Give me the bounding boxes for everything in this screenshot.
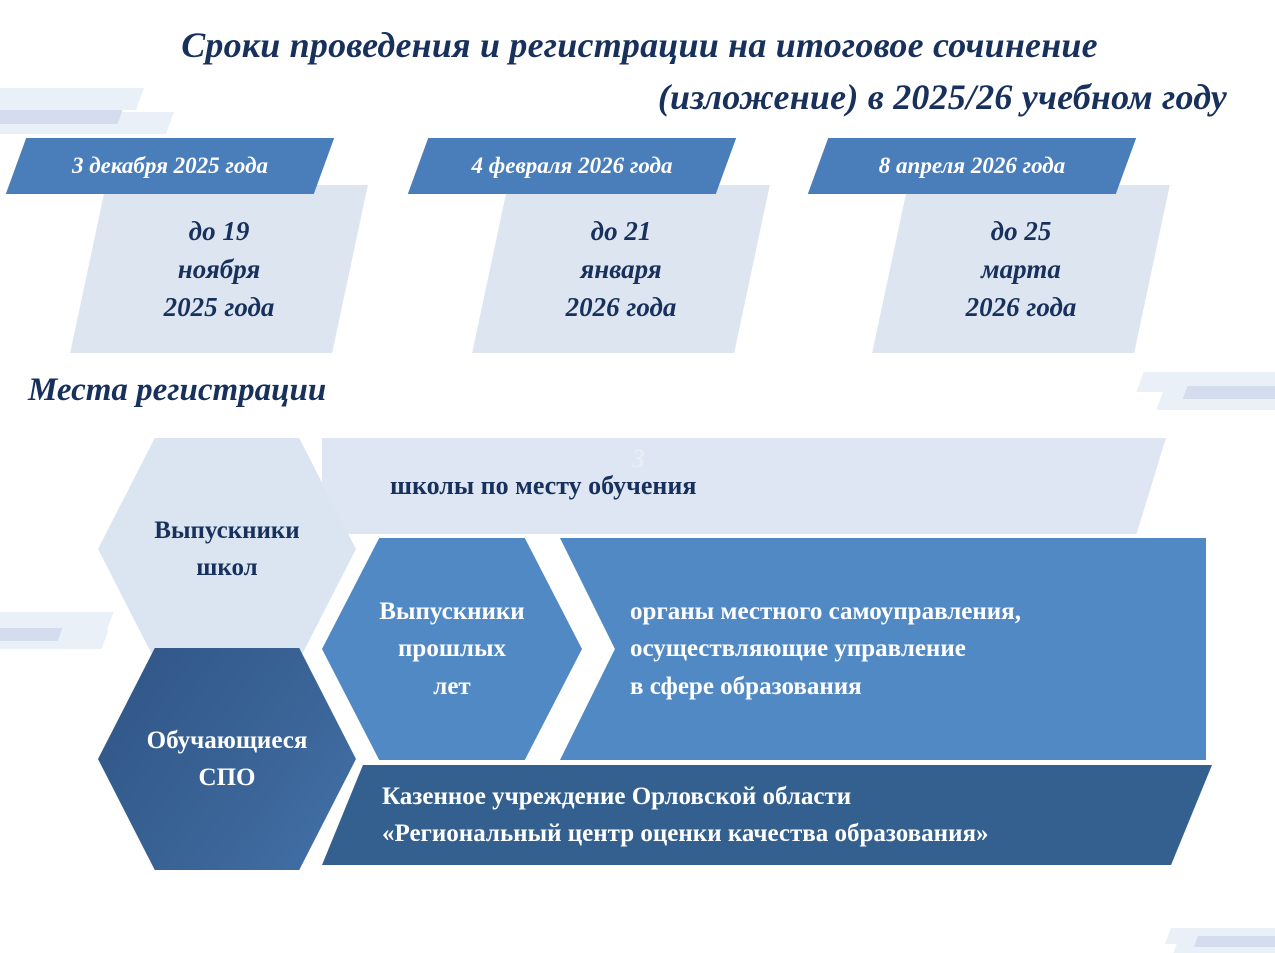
registration-places-heading: Места регистрации [28, 372, 326, 409]
regional-centre-line-1: Казенное учреждение Орловской области [382, 778, 1212, 816]
date-card-2-deadline-line-1: до 21 [591, 212, 652, 250]
school-graduates-line-1: Выпускники [154, 512, 299, 550]
date-card-1: до 19 ноября 2025 года 3 декабря 2025 го… [16, 138, 346, 353]
local-government-line-2: осуществляющие управление [630, 630, 1206, 668]
slide-title-line-2: (изложение) в 2025/26 учебном году [52, 72, 1227, 124]
past-years-line-1: Выпускники [379, 593, 524, 631]
date-card-3-registration-deadline: до 25 марта 2026 года [890, 185, 1152, 353]
slide-number-watermark: 3 [632, 444, 645, 474]
registration-places-diagram: школы по месту обучения органы местного … [0, 430, 1275, 860]
school-graduates-line-2: школ [196, 549, 257, 587]
decor-strip-right-mid-3 [1156, 390, 1275, 410]
school-graduates-label: Выпускники школ [98, 438, 356, 660]
spo-students-line-2: СПО [199, 759, 256, 797]
decor-strip-right-mid-1 [1136, 372, 1275, 392]
local-government-line-3: в сфере образования [630, 668, 1206, 706]
date-card-3-exam-date: 8 апреля 2026 года [818, 138, 1126, 194]
date-card-1-registration-deadline: до 19 ноября 2025 года [88, 185, 350, 353]
date-card-2-deadline-line-3: 2026 года [566, 288, 677, 326]
date-card-2: до 21 января 2026 года 4 февраля 2026 го… [418, 138, 748, 353]
regional-centre-band-label: Казенное учреждение Орловской области «Р… [322, 765, 1212, 865]
date-card-2-deadline-line-2: января [580, 250, 661, 288]
date-card-1-deadline-line-2: ноября [178, 250, 261, 288]
past-years-line-3: лет [433, 668, 470, 706]
date-card-1-deadline-line-1: до 19 [189, 212, 250, 250]
date-card-2-exam-date: 4 февраля 2026 года [418, 138, 726, 194]
date-card-3: до 25 марта 2026 года 8 апреля 2026 года [818, 138, 1148, 353]
decor-strip-bottom-right-3 [1173, 938, 1275, 953]
local-government-line-1: органы местного самоуправления, [630, 593, 1206, 631]
date-card-2-registration-deadline: до 21 января 2026 года [490, 185, 752, 353]
spo-students-line-1: Обучающиеся [147, 722, 308, 760]
slide-title-line-1: Сроки проведения и регистрации на итогов… [52, 20, 1227, 72]
past-years-line-2: прошлых [398, 630, 506, 668]
schools-band-label: школы по месту обучения [322, 438, 1166, 534]
date-card-1-exam-date: 3 декабря 2025 года [16, 138, 324, 194]
date-card-3-deadline-line-2: марта [981, 250, 1061, 288]
decor-strip-bottom-right-1 [1165, 928, 1275, 944]
spo-students-label: Обучающиеся СПО [98, 648, 356, 870]
date-card-3-deadline-line-1: до 25 [991, 212, 1052, 250]
slide-title: Сроки проведения и регистрации на итогов… [52, 20, 1227, 124]
past-years-graduates-label: Выпускники прошлых лет [322, 538, 582, 760]
decor-strip-bottom-right-2 [1194, 936, 1275, 947]
decor-strip-right-mid-2 [1183, 386, 1275, 399]
date-card-1-deadline-line-3: 2025 года [164, 288, 275, 326]
regional-centre-line-2: «Региональный центр оценки качества обра… [382, 815, 1212, 853]
slide-canvas: Сроки проведения и регистрации на итогов… [0, 0, 1275, 953]
date-card-3-deadline-line-3: 2026 года [966, 288, 1077, 326]
local-government-band-label: органы местного самоуправления, осуществ… [560, 538, 1206, 760]
